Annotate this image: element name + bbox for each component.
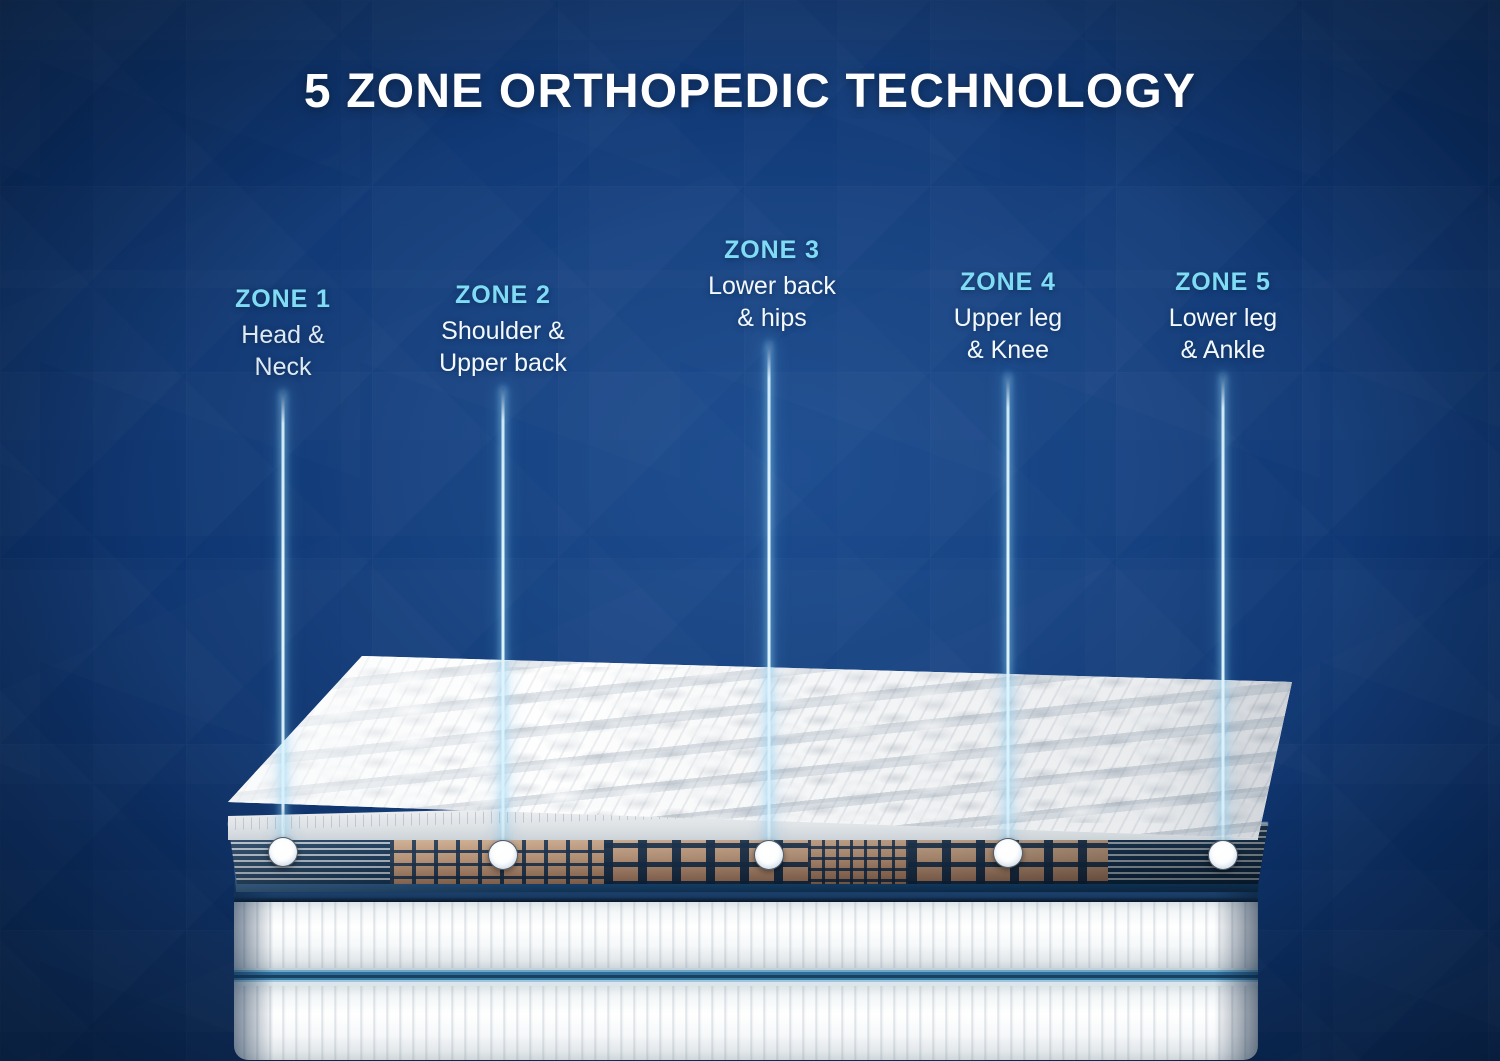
callout-dot-zone-2[interactable] <box>488 840 518 870</box>
connector-line-zone-4 <box>1007 375 1010 844</box>
quilted-top-highlight <box>228 656 1292 838</box>
infographic-canvas: 5 ZONE ORTHOPEDIC TECHNOLOGY <box>0 0 1500 1061</box>
connector-line-zone-5 <box>1222 375 1225 846</box>
callout-dot-zone-5[interactable] <box>1208 840 1238 870</box>
mattress-illustration <box>0 0 1500 1061</box>
connector-line-zone-1 <box>282 392 285 844</box>
callout-dot-zone-1[interactable] <box>268 837 298 867</box>
callout-dot-zone-3[interactable] <box>754 840 784 870</box>
mattress-upper-side-panel <box>234 902 1258 968</box>
mattress-right-edge-shade <box>1214 876 1258 1061</box>
quilted-pillow-top-cover <box>228 656 1292 838</box>
callout-dot-zone-4[interactable] <box>993 838 1023 868</box>
mattress-left-edge-shade <box>234 876 274 1061</box>
mattress-lower-side-panel <box>234 986 1258 1060</box>
mattress-side-piping <box>234 968 1258 986</box>
connector-line-zone-3 <box>768 343 771 846</box>
connector-line-zone-2 <box>502 388 505 846</box>
mattress-body <box>234 876 1258 1061</box>
